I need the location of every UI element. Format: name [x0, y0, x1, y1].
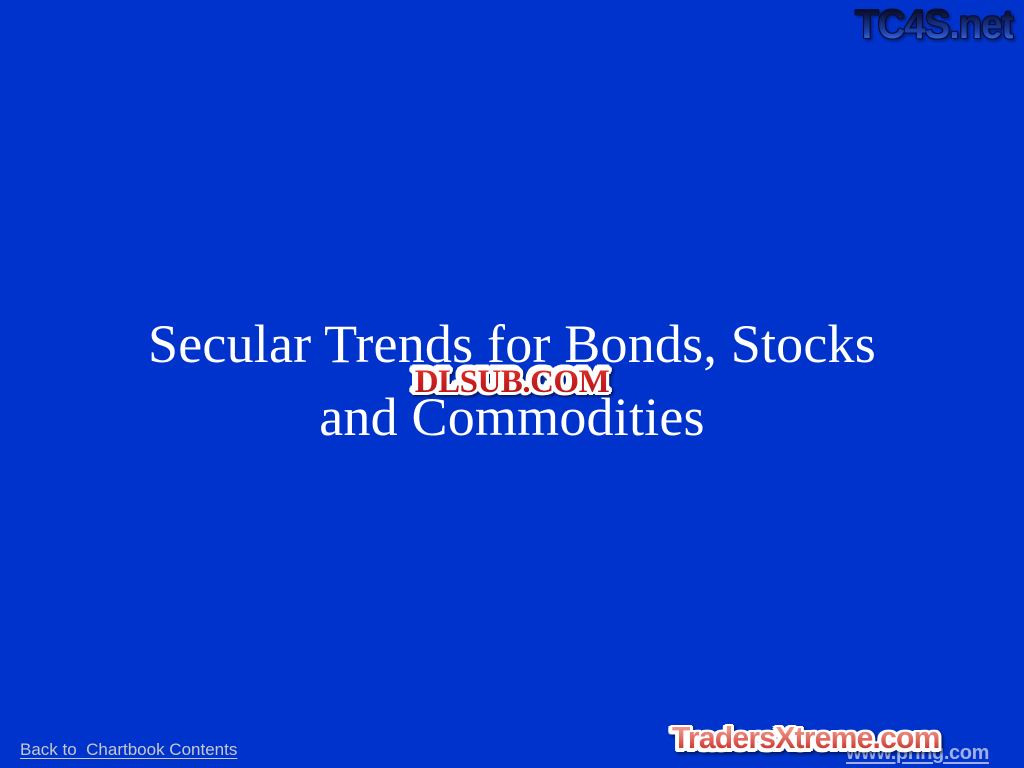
page-title: Secular Trends for Bonds, Stocks and Com… — [0, 308, 1024, 454]
title-line-2: and Commodities — [0, 381, 1024, 454]
title-line-1: Secular Trends for Bonds, Stocks — [0, 308, 1024, 381]
presentation-slide: TC4S.net Secular Trends for Bonds, Stock… — [0, 0, 1024, 768]
back-to-chartbook-contents-link[interactable]: Back to Chartbook Contents — [20, 739, 237, 760]
tc4s-net-logo: TC4S.net — [855, 2, 1013, 46]
tradersxtreme-com-logo[interactable]: TradersXtreme.com — [672, 721, 940, 755]
